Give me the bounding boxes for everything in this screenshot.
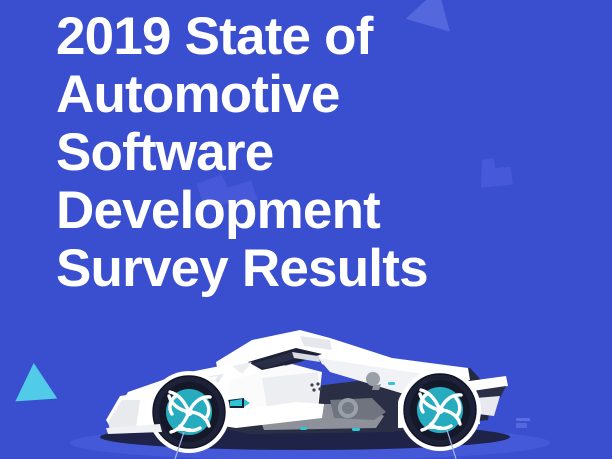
cyan-mark-2: [352, 428, 360, 431]
cyan-mark-3: [300, 427, 307, 430]
poster-canvas: 2019 State of Automotive Software Develo…: [0, 0, 612, 459]
title-line-1: 2019 State of: [56, 8, 456, 66]
page-title: 2019 State of Automotive Software Develo…: [56, 8, 456, 298]
title-line-5: Survey Results: [56, 240, 456, 298]
cyan-mark-1: [388, 382, 395, 385]
title-line-2: Automotive: [56, 66, 456, 124]
car-nose-shade: [108, 400, 140, 430]
mirror-pod: [366, 372, 380, 386]
title-line-3: Software: [56, 124, 456, 182]
title-line-4: Development: [56, 182, 456, 240]
